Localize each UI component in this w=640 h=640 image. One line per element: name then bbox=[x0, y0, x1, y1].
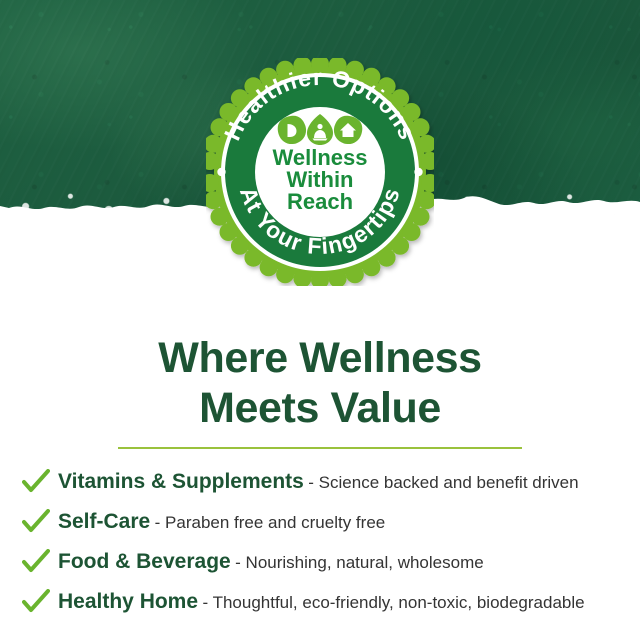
benefit-title: Vitamins & Supplements bbox=[58, 470, 304, 493]
page-title: Where Wellness Meets Value bbox=[0, 333, 640, 434]
badge-center-line3: Reach bbox=[287, 189, 353, 214]
check-icon bbox=[22, 589, 58, 615]
benefit-desc: - Thoughtful, eco-friendly, non-toxic, b… bbox=[203, 593, 585, 612]
list-item: Healthy Home - Thoughtful, eco-friendly,… bbox=[22, 582, 622, 622]
poster-canvas: Healthier Options At Your Fingertips bbox=[0, 0, 640, 640]
benefit-title: Healthy Home bbox=[58, 590, 198, 613]
check-icon bbox=[22, 509, 58, 535]
list-item: Vitamins & Supplements - Science backed … bbox=[22, 462, 622, 502]
benefit-title: Self-Care bbox=[58, 510, 150, 533]
benefit-title: Food & Beverage bbox=[58, 550, 231, 573]
badge-icon-group bbox=[274, 112, 365, 147]
check-icon bbox=[22, 549, 58, 575]
benefit-desc: - Nourishing, natural, wholesome bbox=[235, 553, 484, 572]
headline-line-2: Meets Value bbox=[0, 383, 640, 433]
list-item: Food & Beverage - Nourishing, natural, w… bbox=[22, 542, 622, 582]
wellness-badge: Healthier Options At Your Fingertips bbox=[206, 58, 434, 286]
divider bbox=[118, 447, 522, 449]
benefit-desc: - Paraben free and cruelty free bbox=[155, 513, 386, 532]
benefits-list: Vitamins & Supplements - Science backed … bbox=[22, 462, 622, 622]
badge-dot-right bbox=[414, 168, 422, 176]
benefit-desc: - Science backed and benefit driven bbox=[308, 473, 578, 492]
list-item: Self-Care - Paraben free and cruelty fre… bbox=[22, 502, 622, 542]
badge-dot-left bbox=[217, 168, 225, 176]
headline-line-1: Where Wellness bbox=[158, 334, 481, 382]
check-icon bbox=[22, 469, 58, 495]
